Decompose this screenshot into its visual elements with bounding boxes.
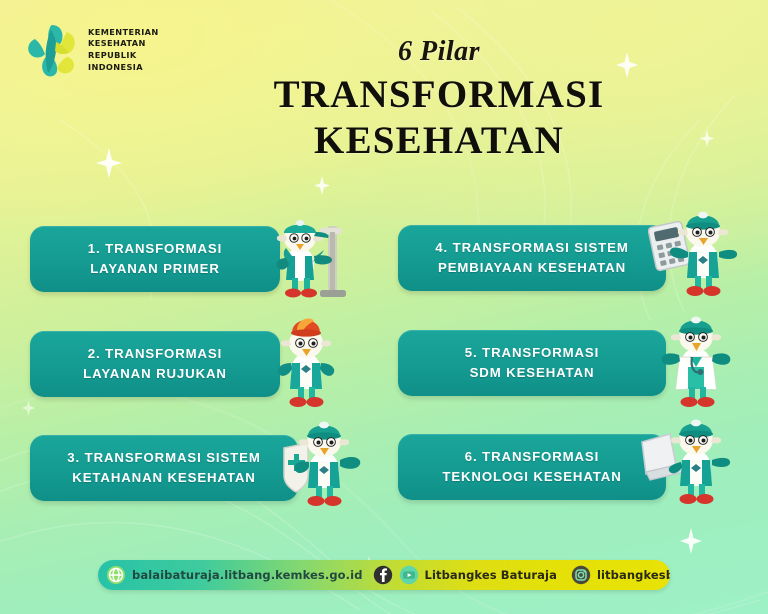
pillar-2-line1: 2. TRANSFORMASI (88, 344, 222, 364)
pillar-4-line1: 4. TRANSFORMASI SISTEM (435, 238, 628, 258)
pillar-card-2[interactable]: 2. TRANSFORMASI LAYANAN RUJUKAN (30, 331, 280, 397)
website-item[interactable]: balaibaturaja.litbang.kemkes.go.id (106, 565, 363, 585)
facebook-icon[interactable] (373, 565, 393, 585)
pillar-5-line2: SDM KESEHATAN (470, 363, 595, 383)
pillar-6-line2: TEKNOLOGI KESEHATAN (442, 467, 621, 487)
pillar-row-1: 1. TRANSFORMASI LAYANAN PRIMER (30, 212, 358, 306)
pillar-3-line1: 3. TRANSFORMASI SISTEM (67, 448, 260, 468)
pillar-card-3[interactable]: 3. TRANSFORMASI SISTEM KETAHANAN KESEHAT… (30, 435, 298, 501)
pillar-row-4: 4. TRANSFORMASI SISTEM PEMBIAYAAN KESEHA… (398, 212, 746, 304)
pillar-1-line1: 1. TRANSFORMASI (88, 239, 222, 259)
pillar-row-5: 5. TRANSFORMASI SDM KESEHATAN (398, 317, 740, 409)
social-name-label: Litbangkes Baturaja (425, 568, 557, 582)
pillar-2-line2: LAYANAN RUJUKAN (83, 364, 227, 384)
pillar-5-line1: 5. TRANSFORMASI (465, 343, 599, 363)
instagram-icon[interactable] (571, 565, 591, 585)
mascot-bird-red-cap-icon (264, 307, 350, 411)
mascot-bird-calculator-icon (648, 198, 746, 304)
mascot-bird-laptop-icon (640, 408, 740, 512)
footer-contact-bar: balaibaturaja.litbang.kemkes.go.id Litba… (98, 560, 670, 590)
pillar-6-line1: 6. TRANSFORMASI (465, 447, 599, 467)
pillar-card-5[interactable]: 5. TRANSFORMASI SDM KESEHATAN (398, 330, 666, 396)
mascot-bird-doctor-coat-icon (652, 301, 740, 409)
pillar-card-4[interactable]: 4. TRANSFORMASI SISTEM PEMBIAYAAN KESEHA… (398, 225, 666, 291)
pillar-card-6[interactable]: 6. TRANSFORMASI TEKNOLOGI KESEHATAN (398, 434, 666, 500)
youtube-icon[interactable] (399, 565, 419, 585)
website-label: balaibaturaja.litbang.kemkes.go.id (132, 568, 363, 582)
mascot-bird-shield-icon (274, 410, 370, 514)
instagram-handle-label: litbangkesbaturaja (597, 568, 670, 582)
globe-icon (106, 565, 126, 585)
pillar-row-3: 3. TRANSFORMASI SISTEM KETAHANAN KESEHAT… (30, 422, 370, 514)
social-facebook-youtube-item[interactable]: Litbangkes Baturaja (373, 565, 557, 585)
pillar-row-2: 2. TRANSFORMASI LAYANAN RUJUKAN (30, 317, 350, 411)
pillars-grid: 1. TRANSFORMASI LAYANAN PRIMER (0, 0, 768, 614)
pillar-1-line2: LAYANAN PRIMER (90, 259, 220, 279)
instagram-item[interactable]: litbangkesbaturaja (571, 565, 670, 585)
pillar-4-line2: PEMBIAYAAN KESEHATAN (438, 258, 626, 278)
mascot-bird-height-scale-icon (262, 206, 358, 306)
pillar-3-line2: KETAHANAN KESEHATAN (72, 468, 255, 488)
pillar-row-6: 6. TRANSFORMASI TEKNOLOGI KESEHATAN (398, 422, 740, 512)
infographic-poster: KEMENTERIAN KESEHATAN REPUBLIK INDONESIA… (0, 0, 768, 614)
pillar-card-1[interactable]: 1. TRANSFORMASI LAYANAN PRIMER (30, 226, 280, 292)
